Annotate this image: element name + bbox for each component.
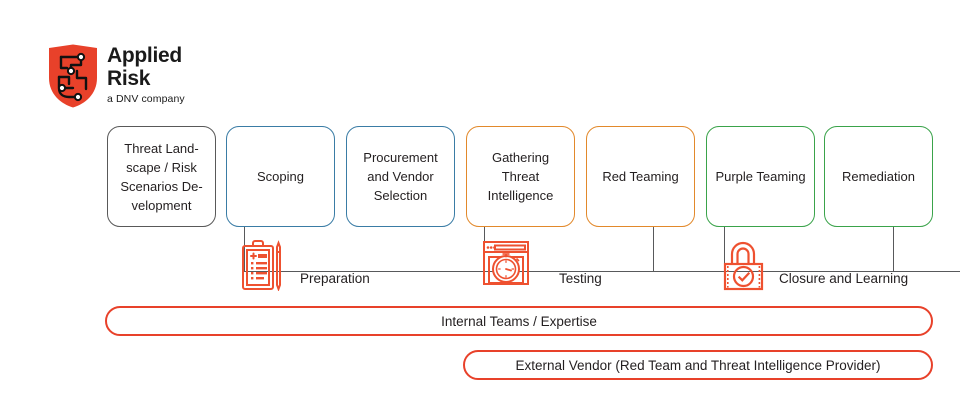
phase-box-scoping[interactable]: Scoping (226, 126, 335, 227)
padlock-check-icon (721, 239, 767, 296)
phase-box-label: Red Teaming (602, 167, 678, 186)
logo-line-risk: Risk (107, 67, 237, 90)
applied-risk-shield-logo (47, 44, 99, 108)
logo-wordmark: Applied Risk a DNV company (107, 44, 237, 106)
phase-box-red-teaming[interactable]: Red Teaming (586, 126, 695, 227)
phase-box-label: Procurementand VendorSelection (363, 148, 437, 205)
phase-box-purple-teaming[interactable]: Purple Teaming (706, 126, 815, 227)
logo-tagline: a DNV company (107, 93, 237, 106)
phase-box-label: Threat Land-scape / RiskScenarios De-vel… (120, 139, 202, 215)
stage-caption-testing: Testing (559, 270, 602, 287)
stage-caption-preparation: Preparation (300, 270, 370, 287)
phase-box-label: Scoping (257, 167, 304, 186)
bar-external-vendor[interactable]: External Vendor (Red Team and Threat Int… (463, 350, 933, 380)
bar-label: External Vendor (Red Team and Threat Int… (516, 358, 881, 373)
clipboard-pen-icon (241, 239, 285, 296)
browser-stopwatch-icon (482, 239, 532, 294)
logo-line-applied: Applied (107, 44, 237, 67)
applied-risk-logo: Applied Risk a DNV company (47, 44, 227, 110)
phase-box-threat-landscape[interactable]: Threat Land-scape / RiskScenarios De-vel… (107, 126, 216, 227)
phase-box-gathering-threat-intelligence[interactable]: Gathering ThreatIntelligence (466, 126, 575, 227)
bar-internal-teams[interactable]: Internal Teams / Expertise (105, 306, 933, 336)
bar-label: Internal Teams / Expertise (441, 314, 597, 329)
phase-box-remediation[interactable]: Remediation (824, 126, 933, 227)
phase-box-label: Gathering ThreatIntelligence (474, 148, 567, 205)
phase-box-procurement[interactable]: Procurementand VendorSelection (346, 126, 455, 227)
stage-caption-closure-and-learning: Closure and Learning (779, 270, 908, 287)
phase-box-label: Remediation (842, 167, 915, 186)
phase-box-label: Purple Teaming (715, 167, 805, 186)
